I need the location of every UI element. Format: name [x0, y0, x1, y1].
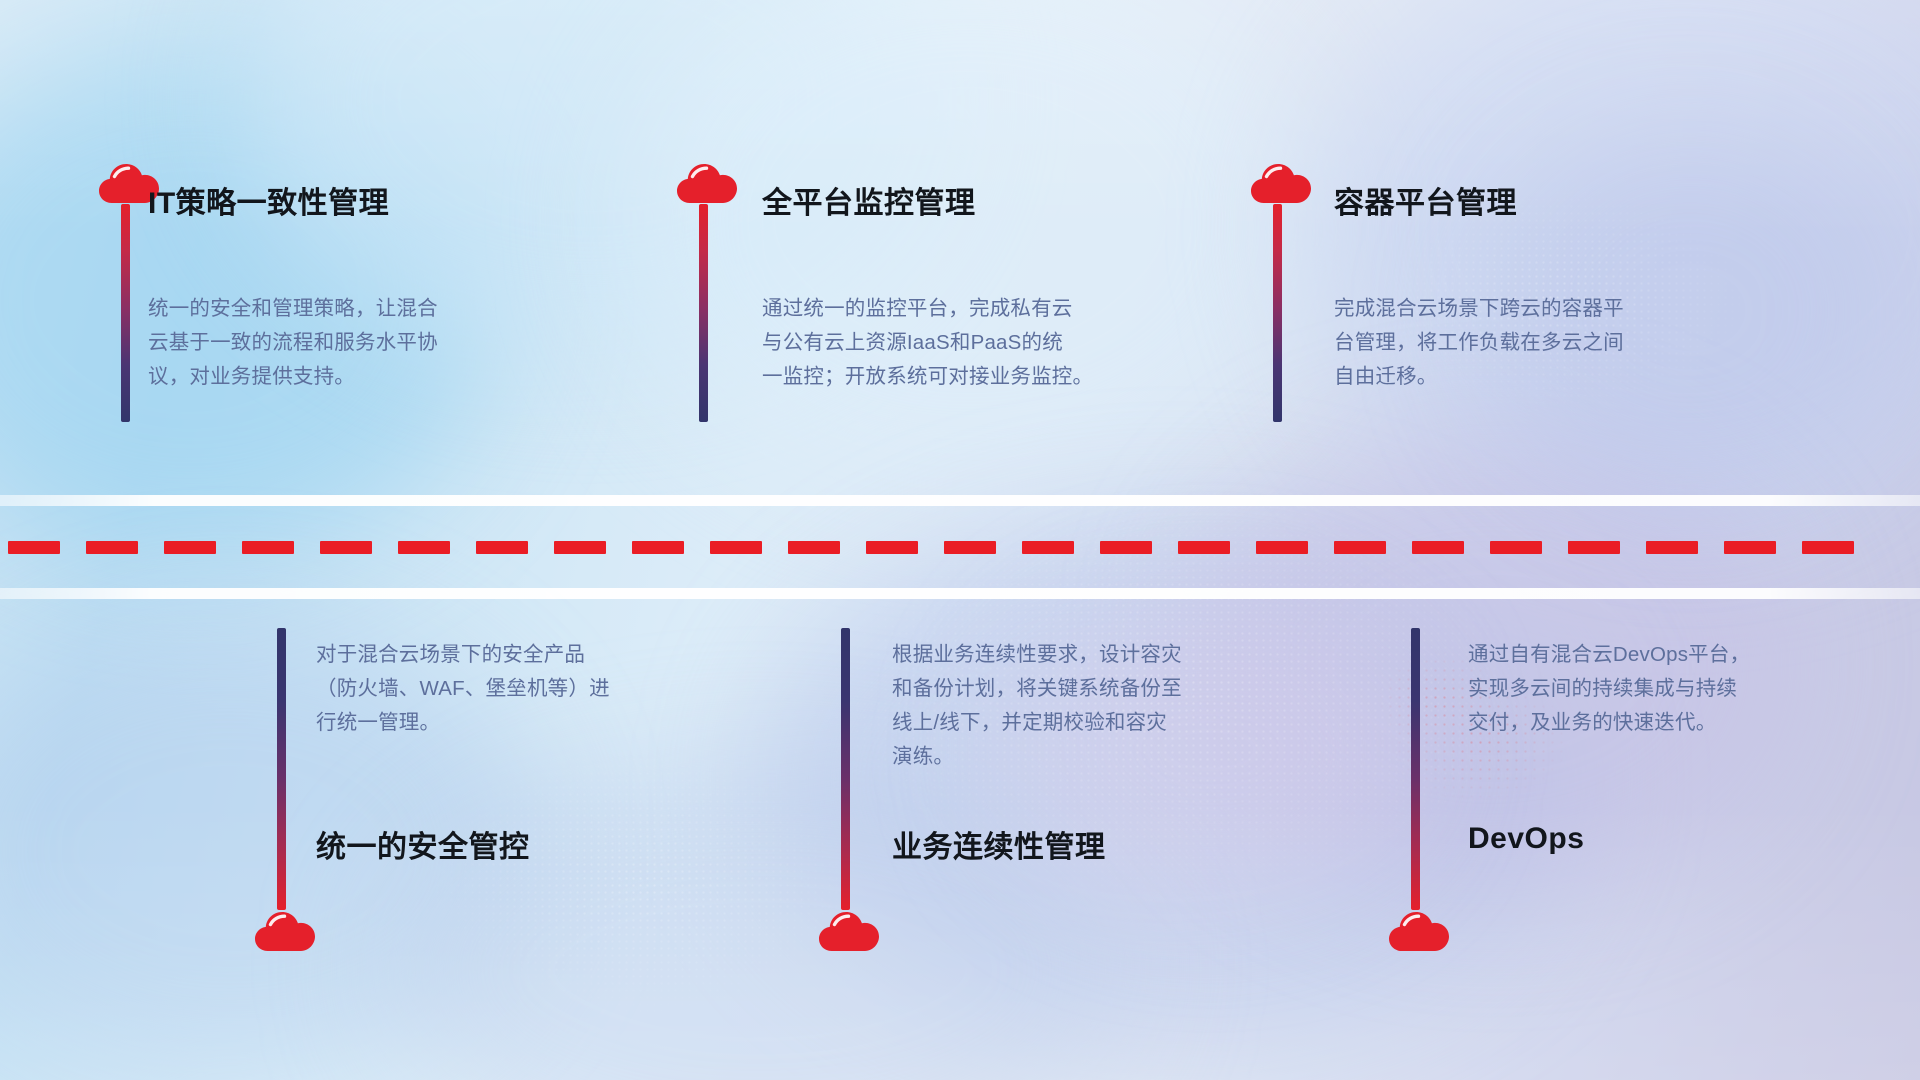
body-line: 自由迁移。 [1334, 360, 1624, 394]
road-dash-segment [1568, 541, 1620, 554]
callout-body-bottom-1: 对于混合云场景下的安全产品 （防火墙、WAF、堡垒机等）进 行统一管理。 [316, 638, 610, 740]
body-line: 与公有云上资源IaaS和PaaS的统 [762, 326, 1093, 360]
body-line: 云基于一致的流程和服务水平协 [148, 326, 438, 360]
connector-stem [277, 628, 286, 910]
callout-title-top-3: 容器平台管理 [1334, 178, 1517, 222]
body-line: 统一的安全和管理策略，让混合 [148, 292, 438, 326]
body-line: （防火墙、WAF、堡垒机等）进 [316, 672, 610, 706]
road-dash-segment [1256, 541, 1308, 554]
road-dash-segment [944, 541, 996, 554]
road-dash-segment [86, 541, 138, 554]
road-dash-segment [476, 541, 528, 554]
body-line: 演练。 [892, 740, 1182, 774]
connector-stem [121, 204, 130, 422]
callout-bottom-2 [818, 628, 880, 952]
road-dash-segment [320, 541, 372, 554]
cloud-icon [1388, 908, 1450, 952]
infographic-canvas: IT策略一致性管理 统一的安全和管理策略，让混合 云基于一致的流程和服务水平协 … [0, 0, 1920, 1080]
road-dash-segment [8, 541, 60, 554]
callout-title-top-2: 全平台监控管理 [762, 178, 976, 222]
road-dash-segment [398, 541, 450, 554]
body-line: 行统一管理。 [316, 706, 610, 740]
body-line: 根据业务连续性要求，设计容灾 [892, 638, 1182, 672]
road-dash-segment [1802, 541, 1854, 554]
callout-top-2 [676, 160, 738, 422]
body-line: 实现多云间的持续集成与持续 [1468, 672, 1750, 706]
road-edge-bottom [0, 588, 1920, 599]
callout-body-top-2: 通过统一的监控平台，完成私有云 与公有云上资源IaaS和PaaS的统 一监控；开… [762, 292, 1093, 394]
body-line: 一监控；开放系统可对接业务监控。 [762, 360, 1093, 394]
body-line: 交付，及业务的快速迭代。 [1468, 706, 1750, 740]
body-line: 和备份计划，将关键系统备份至 [892, 672, 1182, 706]
callout-title-top-1: IT策略一致性管理 [148, 178, 389, 222]
road-dash-segment [164, 541, 216, 554]
callout-body-top-1: 统一的安全和管理策略，让混合 云基于一致的流程和服务水平协 议，对业务提供支持。 [148, 292, 438, 394]
road-dash-segment [866, 541, 918, 554]
road-dash-segment [1022, 541, 1074, 554]
callout-body-bottom-3: 通过自有混合云DevOps平台， 实现多云间的持续集成与持续 交付，及业务的快速… [1468, 638, 1750, 740]
body-line: 对于混合云场景下的安全产品 [316, 638, 610, 672]
cloud-icon [1250, 160, 1312, 204]
connector-stem [841, 628, 850, 910]
body-line: 完成混合云场景下跨云的容器平 [1334, 292, 1624, 326]
body-line: 台管理，将工作负载在多云之间 [1334, 326, 1624, 360]
road-edge-top [0, 495, 1920, 506]
connector-stem [699, 204, 708, 422]
road-dash-segment [1178, 541, 1230, 554]
cloud-icon [818, 908, 880, 952]
road-dash-segment [788, 541, 840, 554]
callout-title-bottom-2: 业务连续性管理 [892, 822, 1106, 866]
callout-title-bottom-1: 统一的安全管控 [316, 822, 530, 866]
body-line: 议，对业务提供支持。 [148, 360, 438, 394]
connector-stem [1411, 628, 1420, 910]
road-dash-segment [632, 541, 684, 554]
body-line: 通过统一的监控平台，完成私有云 [762, 292, 1093, 326]
body-line: 通过自有混合云DevOps平台， [1468, 638, 1750, 672]
connector-stem [1273, 204, 1282, 422]
road-dashed-centerline [0, 541, 1920, 554]
road-dash-segment [554, 541, 606, 554]
road-dash-segment [1490, 541, 1542, 554]
callout-body-top-3: 完成混合云场景下跨云的容器平 台管理，将工作负载在多云之间 自由迁移。 [1334, 292, 1624, 394]
callout-bottom-1 [254, 628, 316, 952]
callout-bottom-3 [1388, 628, 1450, 952]
road-dash-segment [1724, 541, 1776, 554]
body-line: 线上/线下，并定期校验和容灾 [892, 706, 1182, 740]
road-dash-segment [242, 541, 294, 554]
road-dash-segment [1646, 541, 1698, 554]
callout-title-bottom-3: DevOps [1468, 822, 1584, 856]
callout-body-bottom-2: 根据业务连续性要求，设计容灾 和备份计划，将关键系统备份至 线上/线下，并定期校… [892, 638, 1182, 774]
road-dash-segment [1100, 541, 1152, 554]
road-dash-segment [1334, 541, 1386, 554]
road-dash-segment [710, 541, 762, 554]
road-dash-segment [1412, 541, 1464, 554]
cloud-icon [676, 160, 738, 204]
callout-top-3 [1250, 160, 1312, 422]
cloud-icon [254, 908, 316, 952]
